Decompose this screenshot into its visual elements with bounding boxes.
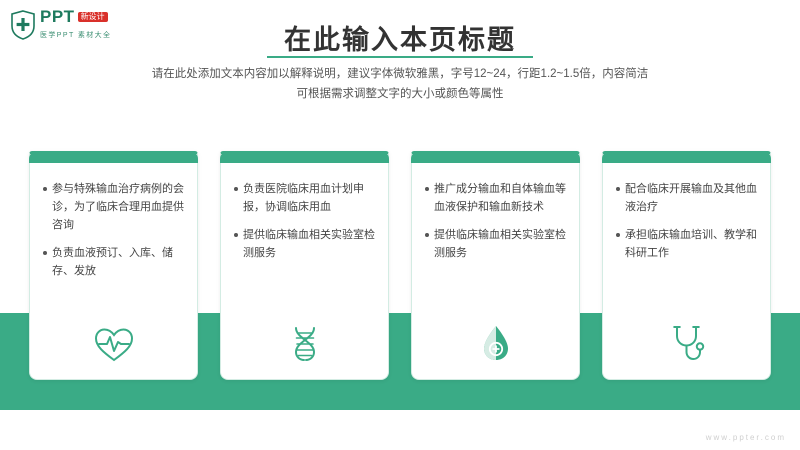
stethoscope-icon xyxy=(603,323,770,363)
subtitle-line-2: 可根据需求调整文字的大小或颜色等属性 xyxy=(0,84,800,104)
bullet-dot-icon xyxy=(425,233,429,237)
card-3[interactable]: 推广成分输血和自体输血等血液保护和输血新技术 提供临床输血相关实验室检测服务 xyxy=(411,151,580,380)
card-2-bullets: 负责医院临床用血计划申报，协调临床用血 提供临床输血相关实验室检测服务 xyxy=(234,180,375,262)
dna-icon xyxy=(221,325,388,363)
card-1-top-accent xyxy=(29,151,198,163)
card-4-top-accent xyxy=(602,151,771,163)
card-4-bullets: 配合临床开展输血及其他血液治疗 承担临床输血培训、教学和科研工作 xyxy=(616,180,757,262)
page-subtitle: 请在此处添加文本内容加以解释说明，建议字体微软雅黑，字号12~24，行距1.2~… xyxy=(0,64,800,104)
page-title: 在此输入本页标题 xyxy=(0,18,800,57)
card-row: 参与特殊输血治疗病例的会诊，为了临床合理用血提供咨询 负责血液预订、入库、储存、… xyxy=(0,151,800,380)
card-4[interactable]: 配合临床开展输血及其他血液治疗 承担临床输血培训、教学和科研工作 xyxy=(602,151,771,380)
list-item: 推广成分输血和自体输血等血液保护和输血新技术 xyxy=(425,180,566,216)
card-4-bullet-2-text: 承担临床输血培训、教学和科研工作 xyxy=(625,226,757,262)
card-2-top-accent xyxy=(220,151,389,163)
bullet-dot-icon xyxy=(616,187,620,191)
card-3-bullet-1-text: 推广成分输血和自体输血等血液保护和输血新技术 xyxy=(434,180,566,216)
bullet-dot-icon xyxy=(43,187,47,191)
card-2-bullet-1-text: 负责医院临床用血计划申报，协调临床用血 xyxy=(243,180,375,216)
card-3-top-accent xyxy=(411,151,580,163)
subtitle-line-1: 请在此处添加文本内容加以解释说明，建议字体微软雅黑，字号12~24，行距1.2~… xyxy=(0,64,800,84)
blood-drop-icon xyxy=(412,323,579,363)
watermark: www.ppter.com xyxy=(706,433,786,442)
list-item: 提供临床输血相关实验室检测服务 xyxy=(425,226,566,262)
card-1-bullet-1-text: 参与特殊输血治疗病例的会诊，为了临床合理用血提供咨询 xyxy=(52,180,184,234)
list-item: 承担临床输血培训、教学和科研工作 xyxy=(616,226,757,262)
bullet-dot-icon xyxy=(43,251,47,255)
card-1-bullets: 参与特殊输血治疗病例的会诊，为了临床合理用血提供咨询 负责血液预订、入库、储存、… xyxy=(43,180,184,280)
card-2[interactable]: 负责医院临床用血计划申报，协调临床用血 提供临床输血相关实验室检测服务 xyxy=(220,151,389,380)
list-item: 负责血液预订、入库、储存、发放 xyxy=(43,244,184,280)
list-item: 配合临床开展输血及其他血液治疗 xyxy=(616,180,757,216)
title-underline xyxy=(267,56,533,58)
card-3-bullet-2-text: 提供临床输血相关实验室检测服务 xyxy=(434,226,566,262)
card-2-bullet-2-text: 提供临床输血相关实验室检测服务 xyxy=(243,226,375,262)
card-1[interactable]: 参与特殊输血治疗病例的会诊，为了临床合理用血提供咨询 负责血液预订、入库、储存、… xyxy=(29,151,198,380)
list-item: 负责医院临床用血计划申报，协调临床用血 xyxy=(234,180,375,216)
bullet-dot-icon xyxy=(425,187,429,191)
card-4-bullet-1-text: 配合临床开展输血及其他血液治疗 xyxy=(625,180,757,216)
bullet-dot-icon xyxy=(234,233,238,237)
bullet-dot-icon xyxy=(234,187,238,191)
card-1-bullet-2-text: 负责血液预订、入库、储存、发放 xyxy=(52,244,184,280)
list-item: 提供临床输血相关实验室检测服务 xyxy=(234,226,375,262)
bottom-white-strip xyxy=(0,410,800,450)
heartbeat-icon xyxy=(30,325,197,363)
card-3-bullets: 推广成分输血和自体输血等血液保护和输血新技术 提供临床输血相关实验室检测服务 xyxy=(425,180,566,262)
slide: PPT 新设计 医学PPT 素材大全 在此输入本页标题 请在此处添加文本内容加以… xyxy=(0,0,800,450)
list-item: 参与特殊输血治疗病例的会诊，为了临床合理用血提供咨询 xyxy=(43,180,184,234)
bullet-dot-icon xyxy=(616,233,620,237)
